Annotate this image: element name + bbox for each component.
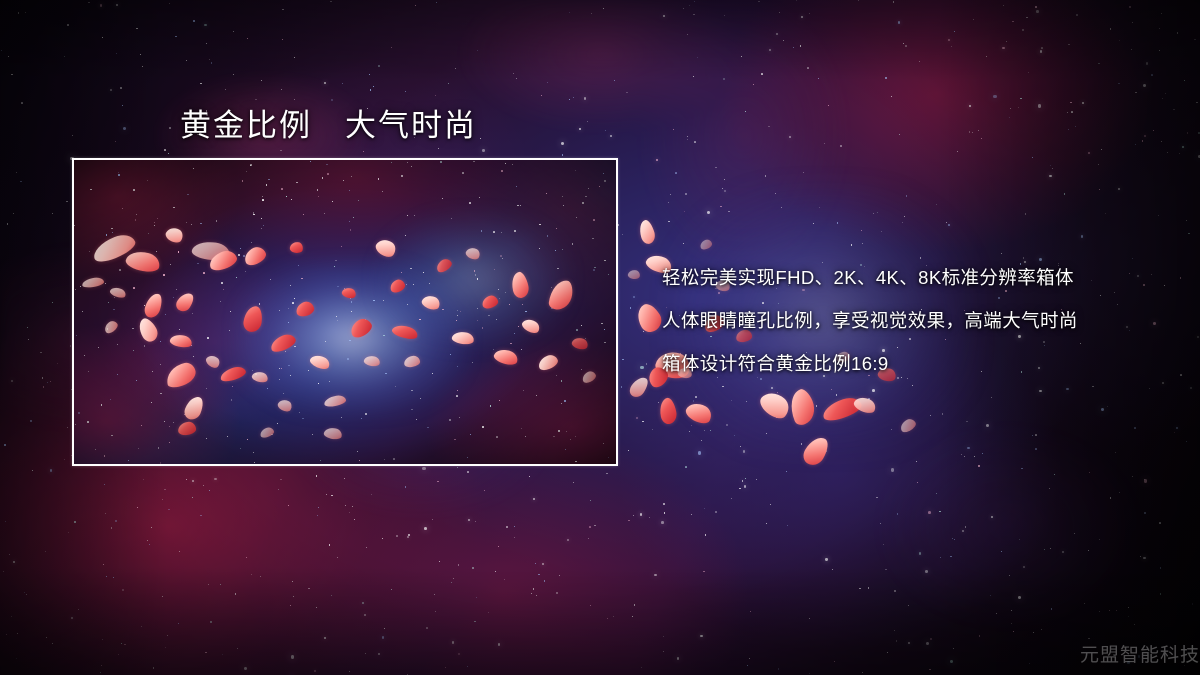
body-line-3: 箱体设计符合黄金比例16:9 (662, 342, 1182, 385)
body-text-block: 轻松完美实现FHD、2K、4K、8K标准分辨率箱体 人体眼睛瞳孔比例，享受视觉效… (662, 256, 1182, 385)
page-title: 黄金比例 大气时尚 (180, 100, 477, 145)
body-line-1: 轻松完美实现FHD、2K、4K、8K标准分辨率箱体 (662, 256, 1182, 299)
brand-watermark: 元盟智能科技 (1080, 640, 1200, 667)
body-line-2: 人体眼睛瞳孔比例，享受视觉效果，高端大气时尚 (662, 299, 1182, 342)
slide-canvas: 黄金比例 大气时尚 轻松完美实现FHD、2K、4K、8K标准分辨率箱体 人体眼睛… (0, 0, 1200, 675)
